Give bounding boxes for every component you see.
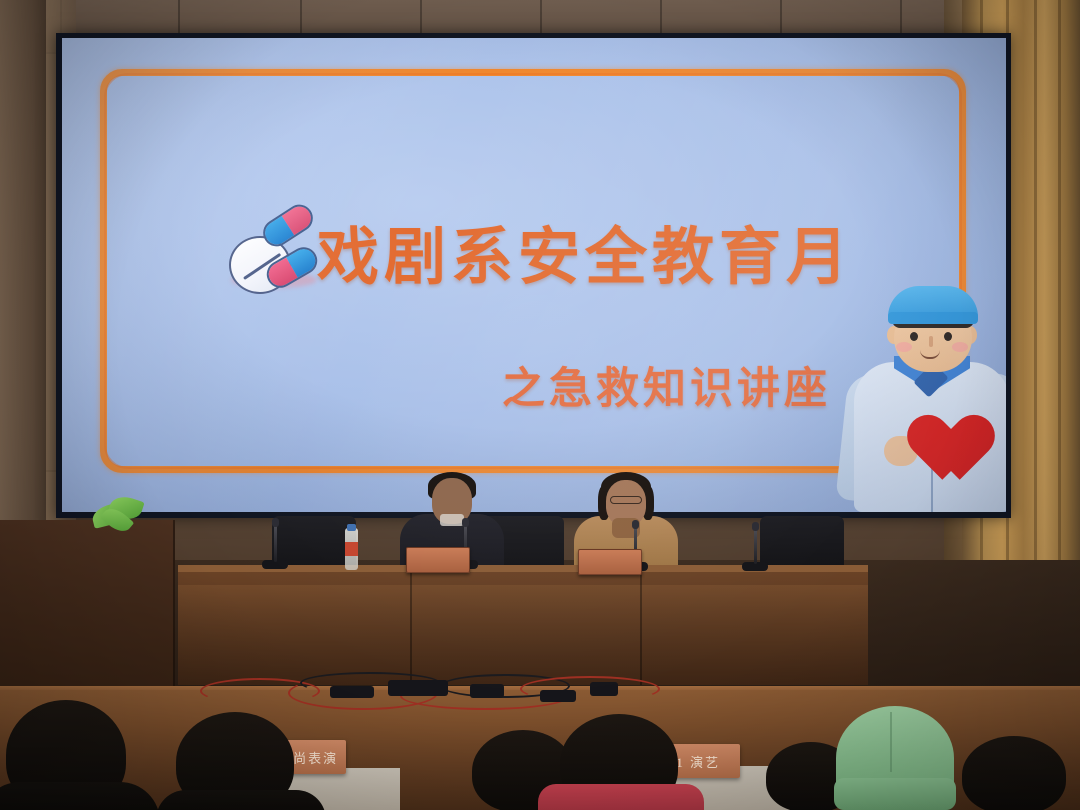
microphone-head (462, 518, 469, 527)
audience-scarf (538, 784, 704, 810)
stage-equipment (330, 686, 374, 698)
audience-beanie-brim (834, 778, 956, 810)
head-table-face (178, 585, 868, 685)
microphone-stem (754, 528, 757, 564)
nameplate-right (578, 549, 642, 575)
microphone-head (272, 518, 279, 527)
projection-screen: 戏剧系安全教育月 之急救知识讲座 (62, 38, 1006, 512)
audience-shoulder (156, 790, 326, 810)
microphone-stem (274, 524, 277, 562)
stage-equipment (470, 684, 504, 698)
audience-shoulder (0, 782, 160, 810)
microphone-head (752, 522, 759, 531)
water-bottle-cap (347, 524, 356, 531)
pills-icon (225, 210, 325, 302)
stage-equipment (540, 690, 576, 702)
chair (760, 516, 844, 572)
slide-subtitle: 之急救知识讲座 (502, 354, 831, 416)
doctor-holding-heart-icon (832, 286, 1006, 512)
auditorium-photo: 戏剧系安全教育月 之急救知识讲座 (0, 0, 1080, 810)
water-bottle-label (345, 542, 358, 556)
audience-beanie-seam (890, 712, 892, 772)
stage-equipment (388, 680, 448, 696)
slide-title: 戏剧系安全教育月 (317, 206, 853, 296)
stage-equipment (590, 682, 618, 696)
heart-icon (894, 388, 972, 460)
nameplate-left (406, 547, 470, 573)
microphone-head (632, 520, 639, 529)
side-podium (0, 520, 175, 695)
plant-icon (92, 495, 148, 529)
audience-head (962, 736, 1066, 810)
left-pillar (0, 0, 46, 560)
